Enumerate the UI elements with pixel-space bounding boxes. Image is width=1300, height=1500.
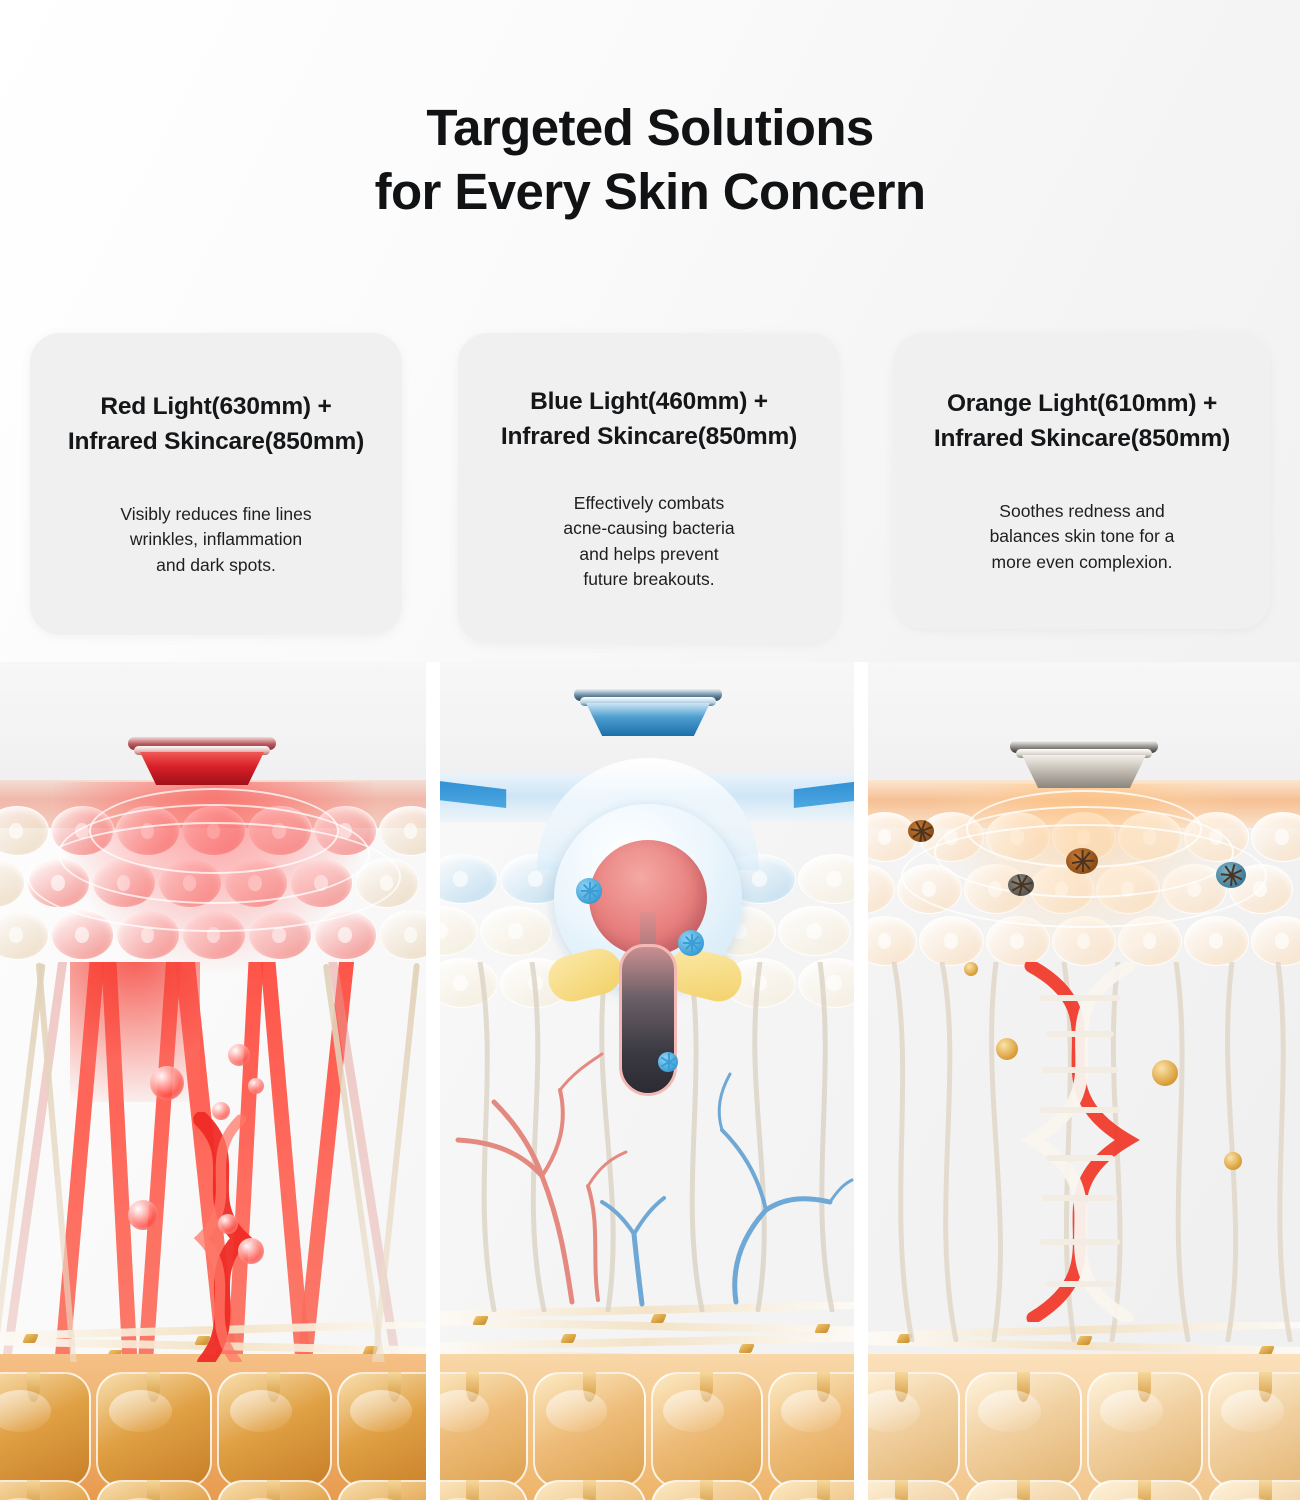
subcutaneous-fat-layer <box>868 1354 1300 1500</box>
skin-cell <box>0 806 49 856</box>
fat-globule <box>868 1372 960 1488</box>
card-body-line-4: future breakouts. <box>476 567 822 593</box>
card-heading-line-1: Orange Light(610mm) + <box>912 387 1252 422</box>
bubble <box>128 1200 158 1230</box>
skin-cell <box>379 806 428 856</box>
card-body-line-1: Visibly reduces fine lines <box>48 502 384 528</box>
collagen-fiber <box>326 962 404 1362</box>
panel-divider-2 <box>854 662 868 1500</box>
fat-globule <box>965 1372 1081 1488</box>
fat-globule <box>651 1372 763 1488</box>
card-body-line-2: wrinkles, inflammation <box>48 527 384 553</box>
amber-droplet <box>964 962 978 976</box>
acne-bacteria <box>576 878 602 904</box>
card-heading-line-1: Red Light(630mm) + <box>48 390 384 425</box>
amber-droplet <box>1224 1152 1242 1170</box>
device-applicator-orange <box>1010 740 1158 788</box>
bubble <box>238 1238 264 1264</box>
fat-globule <box>965 1480 1081 1500</box>
fat-globule <box>96 1372 211 1488</box>
melanin-spot <box>1008 874 1034 896</box>
mesh-line <box>440 1317 856 1335</box>
dna-helix <box>1009 962 1159 1322</box>
card-body-line-3: more even complexion. <box>912 550 1252 576</box>
fat-globule <box>768 1372 856 1488</box>
fat-globule <box>651 1480 763 1500</box>
card-heading-line-2: Infrared Skincare(850mm) <box>48 425 384 460</box>
skin-cell <box>1251 916 1300 966</box>
fat-globule <box>1087 1372 1203 1488</box>
fat-globule <box>217 1480 332 1500</box>
melanin-spot <box>1216 862 1246 888</box>
feature-card-orange-light[interactable]: Orange Light(610mm) + Infrared Skincare(… <box>894 333 1270 629</box>
card-body-line-3: and dark spots. <box>48 553 384 579</box>
acne-bacteria <box>658 1052 678 1072</box>
skin-cell <box>868 864 895 914</box>
skin-cell <box>798 854 856 904</box>
page-title-line-1: Targeted Solutions <box>0 96 1300 160</box>
card-heading: Orange Light(610mm) + Infrared Skincare(… <box>912 387 1252 457</box>
fat-globule <box>440 1372 528 1488</box>
acne-bacteria <box>678 930 704 956</box>
collagen-strand <box>370 963 420 1362</box>
melanin-spot <box>1066 848 1098 874</box>
light-ripple-3 <box>901 824 1267 928</box>
fat-globule <box>0 1372 91 1488</box>
fat-globule <box>217 1372 332 1488</box>
mesh-line <box>440 1333 856 1351</box>
card-heading: Blue Light(460mm) + Infrared Skincare(85… <box>476 385 822 455</box>
fat-globule <box>1208 1372 1300 1488</box>
fat-globule <box>337 1480 428 1500</box>
bubble <box>228 1044 250 1066</box>
fat-globule <box>1208 1480 1300 1500</box>
illustration-strip <box>0 662 1300 1500</box>
collagen-fiber-zone <box>0 962 428 1362</box>
bubble <box>248 1078 264 1094</box>
hair-follicle <box>619 944 677 1096</box>
illustration-red-light-panel <box>0 662 428 1500</box>
skin-cell <box>0 858 25 908</box>
feature-card-blue-light[interactable]: Blue Light(460mm) + Infrared Skincare(85… <box>458 333 840 643</box>
card-heading: Red Light(630mm) + Infrared Skincare(850… <box>48 390 384 460</box>
panel-divider-1 <box>426 662 440 1500</box>
fat-globule <box>96 1480 211 1500</box>
illustration-orange-light-panel <box>868 662 1300 1500</box>
device-cone <box>586 703 710 736</box>
device-cone <box>140 752 264 785</box>
fat-globule <box>868 1480 960 1500</box>
light-ripple-3 <box>27 822 401 932</box>
device-applicator-red <box>128 737 276 785</box>
infographic-page: Targeted Solutions for Every Skin Concer… <box>0 0 1300 1500</box>
fat-globule <box>533 1372 645 1488</box>
card-body-line-1: Effectively combats <box>476 491 822 517</box>
card-body-line-1: Soothes redness and <box>912 499 1252 525</box>
device-applicator-blue <box>574 688 722 736</box>
illustration-blue-light-panel <box>440 662 856 1500</box>
subcutaneous-fat-layer <box>440 1354 856 1500</box>
card-body: Effectively combats acne-causing bacteri… <box>476 491 822 593</box>
page-title-line-2: for Every Skin Concern <box>0 160 1300 224</box>
card-body-line-2: acne-causing bacteria <box>476 516 822 542</box>
card-body-line-3: and helps prevent <box>476 542 822 568</box>
skin-cell <box>440 854 498 904</box>
fat-globule <box>533 1480 645 1500</box>
mesh-accent <box>738 1344 755 1353</box>
fat-globule <box>1087 1480 1203 1500</box>
skin-cell <box>379 910 428 960</box>
card-body: Visibly reduces fine lines wrinkles, inf… <box>48 502 384 579</box>
feature-card-red-light[interactable]: Red Light(630mm) + Infrared Skincare(850… <box>30 333 402 635</box>
melanin-spot <box>908 820 934 842</box>
skin-cell <box>480 906 553 956</box>
bubble <box>218 1214 238 1234</box>
feature-card-row: Red Light(630mm) + Infrared Skincare(850… <box>0 333 1300 653</box>
fat-globule <box>337 1372 428 1488</box>
bubble <box>150 1066 184 1100</box>
fat-globule <box>440 1480 528 1500</box>
skin-cell <box>440 906 478 956</box>
collagen-helix <box>188 1112 254 1362</box>
amber-droplet <box>996 1038 1018 1060</box>
card-heading-line-1: Blue Light(460mm) + <box>476 385 822 420</box>
fat-globule <box>0 1480 91 1500</box>
device-cone <box>1022 755 1146 788</box>
skin-cell <box>0 910 49 960</box>
skin-cell <box>778 906 851 956</box>
page-header: Targeted Solutions for Every Skin Concer… <box>0 96 1300 225</box>
bubble <box>212 1102 230 1120</box>
skin-cell <box>1251 812 1300 862</box>
amber-droplet <box>1152 1060 1178 1086</box>
subcutaneous-fat-layer <box>0 1354 428 1500</box>
card-body-line-2: balances skin tone for a <box>912 524 1252 550</box>
card-heading-line-2: Infrared Skincare(850mm) <box>912 422 1252 457</box>
fat-globule <box>768 1480 856 1500</box>
skin-cell <box>868 916 917 966</box>
card-body: Soothes redness and balances skin tone f… <box>912 499 1252 576</box>
card-heading-line-2: Infrared Skincare(850mm) <box>476 420 822 455</box>
